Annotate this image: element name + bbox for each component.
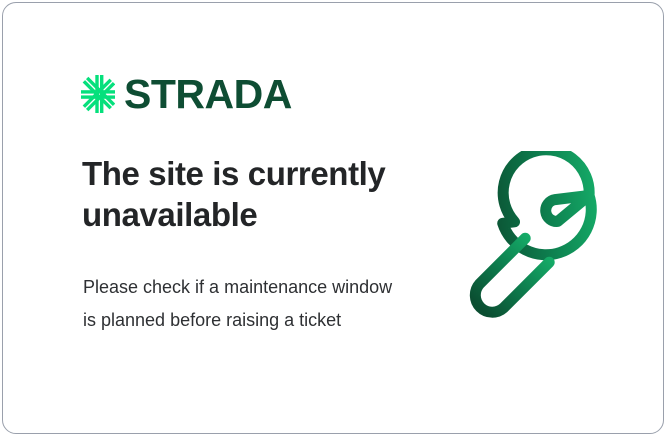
asterisk-star-icon — [81, 75, 115, 113]
page-title: The site is currently unavailable — [82, 153, 422, 235]
page-description: Please check if a maintenance window is … — [83, 271, 393, 337]
wrench-icon — [455, 151, 631, 327]
status-card: STRADA The site is currently unavailable… — [2, 2, 664, 434]
maintenance-page: STRADA The site is currently unavailable… — [0, 0, 666, 436]
brand-logo: STRADA — [81, 69, 292, 119]
brand-wordmark: STRADA — [124, 74, 292, 115]
wrench-head — [476, 151, 616, 273]
